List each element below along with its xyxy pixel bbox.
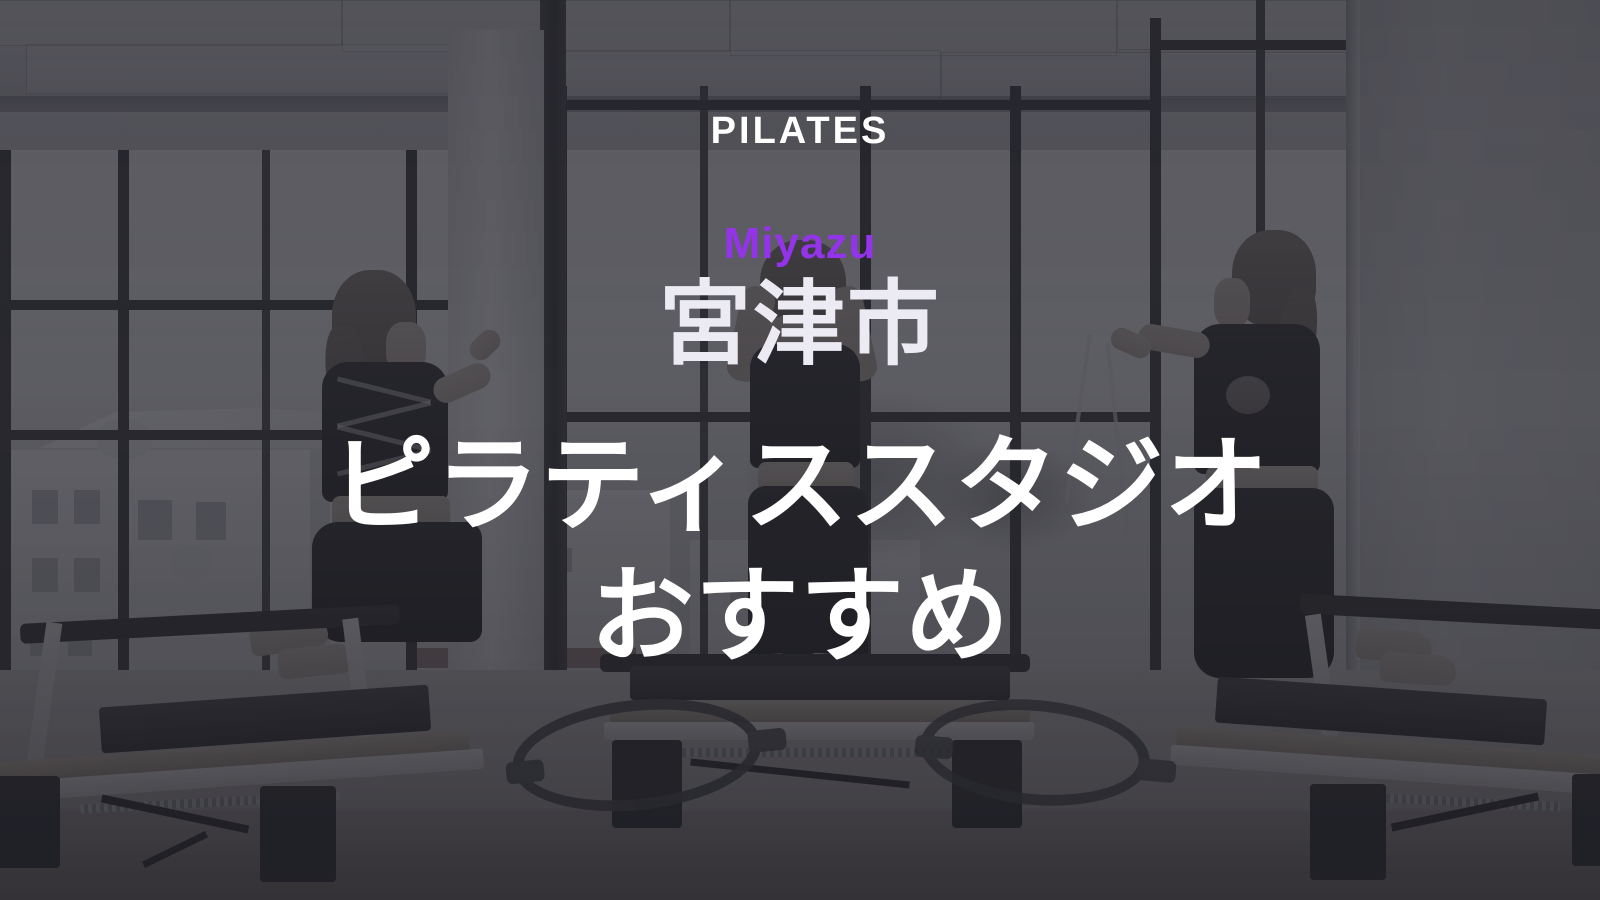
headline-line-1: ピラティススタジオ	[331, 428, 1270, 544]
city-name-japanese: 宮津市	[659, 274, 941, 377]
headline: ピラティススタジオ おすすめ	[331, 421, 1270, 683]
city-name-english: Miyazu	[724, 222, 877, 266]
eyebrow-pilates: PILATES	[711, 112, 890, 150]
pilates-city-banner: PILATES Miyazu 宮津市 ピラティススタジオ おすすめ	[0, 0, 1600, 900]
banner-text-layer: PILATES Miyazu 宮津市 ピラティススタジオ おすすめ	[0, 0, 1600, 900]
headline-line-2: おすすめ	[331, 552, 1270, 683]
